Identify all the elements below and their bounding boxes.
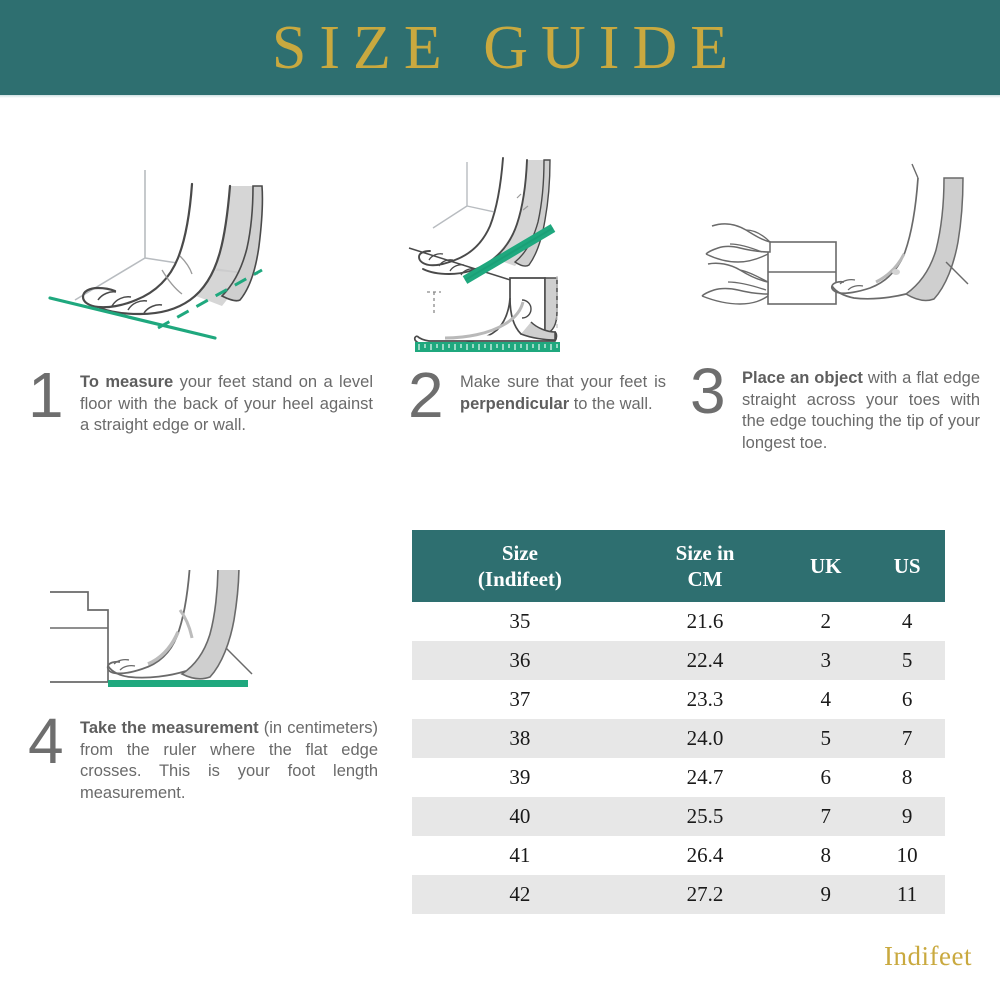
step-2: 2 Make sure that your feet is perpendicu… [408,372,666,424]
illustration-step-2 [405,150,690,365]
step-2-number: 2 [408,366,460,424]
cell-size: 41 [412,836,628,875]
step-4: 4 Take the measurement (in centimeters) … [28,718,378,804]
size-chart-header-row: Size (Indifeet) Size in CM UK US [412,530,945,602]
foot-at-wall-corner-diagram [40,150,380,365]
table-row: 42 27.2 9 11 [412,875,945,914]
step-2-bold: perpendicular [460,395,569,413]
table-row: 36 22.4 3 5 [412,641,945,680]
column-header-size-indifeet: Size (Indifeet) [412,530,628,602]
header-line-2: (Indifeet) [478,567,562,591]
cell-size-cm: 21.6 [628,602,782,641]
header-line-2: CM [688,567,723,591]
header-banner: SIZE GUIDE [0,0,1000,95]
cell-size: 37 [412,680,628,719]
cell-us: 4 [869,602,945,641]
cell-uk: 9 [782,875,869,914]
cell-size: 35 [412,602,628,641]
banner-divider [0,95,1000,98]
cell-us: 11 [869,875,945,914]
table-row: 39 24.7 6 8 [412,758,945,797]
cell-us: 8 [869,758,945,797]
foot-with-flat-edge-and-ruler-diagram [30,570,330,715]
header-line-1: Size [502,541,538,565]
table-row: 41 26.4 8 10 [412,836,945,875]
cell-size: 36 [412,641,628,680]
step-1-text: To measure your feet stand on a level fl… [80,372,373,437]
cell-us: 9 [869,797,945,836]
cell-size-cm: 25.5 [628,797,782,836]
cell-us: 6 [869,680,945,719]
brand-logo: Indifeet [884,941,972,972]
step-2-rest: to the wall. [569,395,652,413]
cell-us: 5 [869,641,945,680]
step-2-text: Make sure that your feet is perpendicula… [460,372,666,415]
table-row: 40 25.5 7 9 [412,797,945,836]
cell-size-cm: 22.4 [628,641,782,680]
cell-us: 10 [869,836,945,875]
cell-size: 38 [412,719,628,758]
column-header-uk: UK [782,530,869,602]
step-4-bold: Take the measurement [80,719,259,737]
foot-perpendicular-and-ruler-diagram [405,150,690,365]
cell-size-cm: 24.7 [628,758,782,797]
illustration-step-4 [30,570,330,715]
cell-size-cm: 24.0 [628,719,782,758]
cell-size-cm: 27.2 [628,875,782,914]
step-3-text: Place an object with a flat edge straigh… [742,368,980,454]
step-2-lead: Make sure that your feet is [460,373,666,391]
illustration-step-1 [40,150,380,365]
page-title: SIZE GUIDE [259,17,741,79]
cell-uk: 2 [782,602,869,641]
cell-uk: 3 [782,641,869,680]
size-chart-table: Size (Indifeet) Size in CM UK US 35 21.6… [412,530,945,914]
table-row: 35 21.6 2 4 [412,602,945,641]
step-1-number: 1 [28,366,80,424]
step-4-text: Take the measurement (in centimeters) fr… [80,718,378,804]
cell-uk: 4 [782,680,869,719]
column-header-size-cm: Size in CM [628,530,782,602]
cell-size-cm: 26.4 [628,836,782,875]
cell-size: 42 [412,875,628,914]
cell-us: 7 [869,719,945,758]
step-3: 3 Place an object with a flat edge strai… [690,368,980,454]
illustration-step-3 [700,150,985,365]
step-1: 1 To measure your feet stand on a level … [28,372,373,437]
cell-size-cm: 23.3 [628,680,782,719]
size-chart-body: 35 21.6 2 4 36 22.4 3 5 37 23.3 4 6 38 2… [412,602,945,914]
table-row: 37 23.3 4 6 [412,680,945,719]
size-chart-head: Size (Indifeet) Size in CM UK US [412,530,945,602]
step-1-bold: To measure [80,373,173,391]
cell-size: 40 [412,797,628,836]
header-line-1: Size in [676,541,735,565]
step-3-number: 3 [690,362,742,420]
cell-uk: 5 [782,719,869,758]
hands-holding-box-against-toes-diagram [700,150,985,365]
step-3-bold: Place an object [742,369,863,387]
table-row: 38 24.0 5 7 [412,719,945,758]
cell-uk: 7 [782,797,869,836]
cell-uk: 8 [782,836,869,875]
cell-size: 39 [412,758,628,797]
column-header-us: US [869,530,945,602]
cell-uk: 6 [782,758,869,797]
step-4-number: 4 [28,712,80,770]
